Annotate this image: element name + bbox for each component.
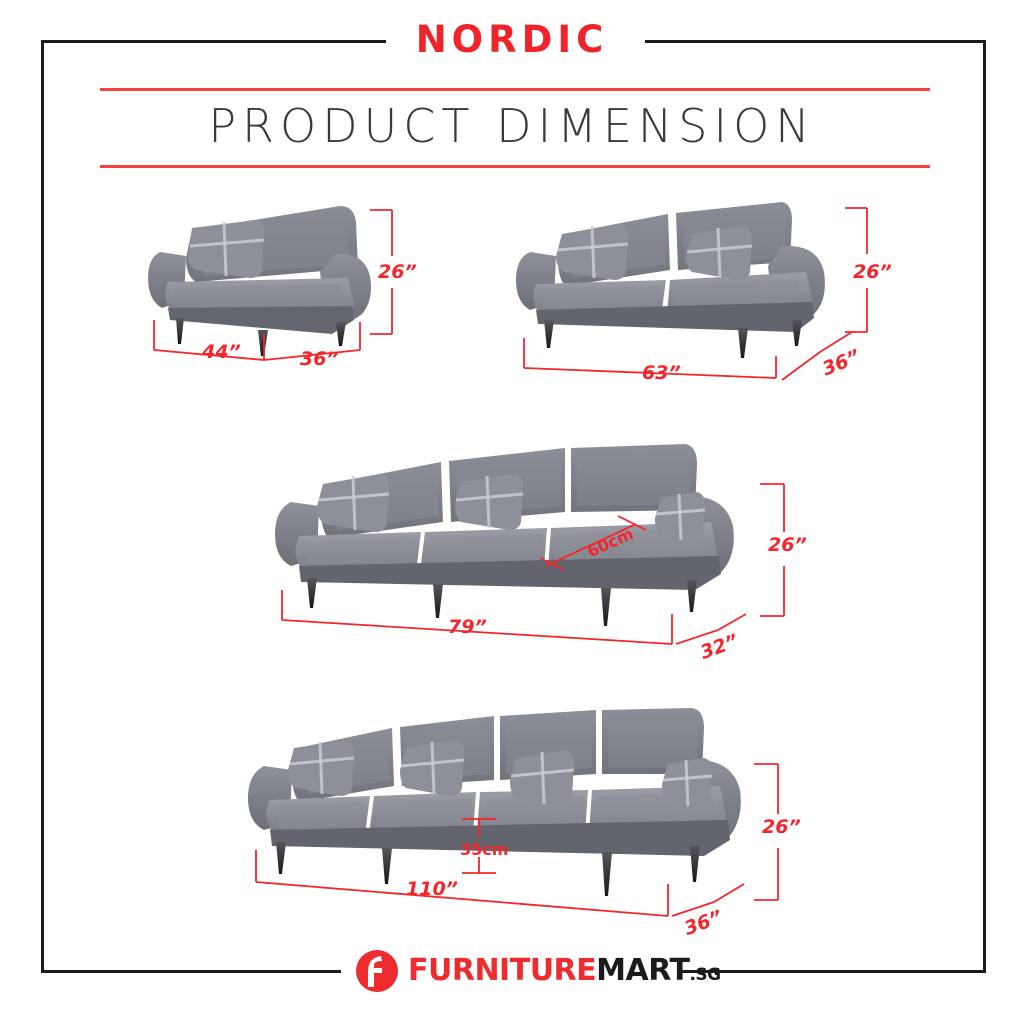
frame-bottom-left-segment — [41, 970, 341, 973]
dimension-depth-one-seater: 36” — [300, 348, 339, 370]
dimension-height-four-seater: 26” — [762, 816, 801, 838]
logo-text-sg: .SG — [689, 965, 720, 985]
logo-text-mart: MART — [596, 953, 689, 988]
furnituremart-f-icon — [355, 949, 399, 993]
dimension-height-two-seater: 26” — [853, 261, 892, 283]
page-title: PRODUCT DIMENSION — [0, 99, 1024, 153]
brand-name: NORDIC — [0, 18, 1024, 61]
title-rule-bottom — [100, 165, 930, 168]
frame-left-edge — [41, 40, 44, 973]
frame-right-edge — [983, 40, 986, 973]
logo-wordmark: FURNITUREMART.SG — [408, 956, 721, 986]
brand-logo: FURNITUREMART.SG — [355, 947, 721, 995]
logo-text-furniture: FURNITURE — [408, 953, 596, 988]
frame-bottom-right-segment — [680, 970, 986, 973]
dimension-width-two-seater: 63” — [642, 362, 681, 384]
dimension-lines-four-seater — [252, 846, 752, 926]
dimension-width-four-seater: 110” — [406, 878, 458, 900]
dimension-height-three-seater: 26” — [768, 534, 807, 556]
title-rule-top — [100, 88, 930, 91]
dimension-height-one-seater: 26” — [378, 261, 417, 283]
infographic-page: NORDIC PRODUCT DIMENSION — [0, 0, 1024, 1024]
dimension-lines-three-seater — [278, 586, 758, 654]
dimension-width-three-seater: 79” — [448, 616, 487, 638]
dimension-lines-two-seater — [520, 332, 870, 392]
dimension-width-one-seater: 44” — [202, 341, 241, 363]
